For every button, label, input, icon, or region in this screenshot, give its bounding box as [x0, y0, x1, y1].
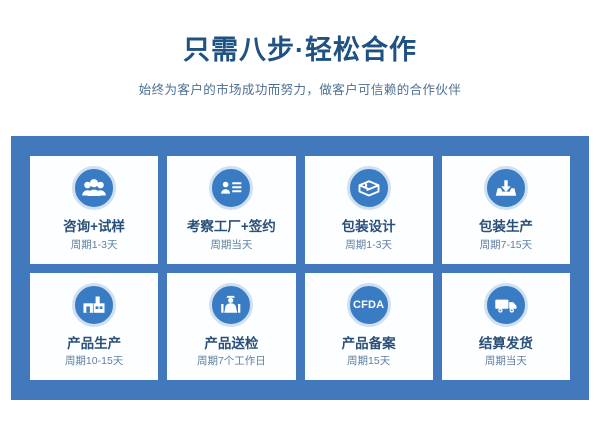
step-duration: 周期15天 — [347, 355, 390, 367]
step-duration: 周期当天 — [210, 239, 252, 251]
step-label: 产品生产 — [67, 336, 121, 352]
step-card-7[interactable]: CFDA 产品备案 周期15天 — [305, 273, 433, 381]
step-label: 考察工厂+签约 — [187, 219, 276, 235]
package-box-icon — [347, 166, 391, 210]
step-card-3[interactable]: 包装设计 周期1-3天 — [305, 156, 433, 264]
step-label: 包装生产 — [479, 219, 533, 235]
people-group-icon — [72, 166, 116, 210]
step-duration: 周期1-3天 — [345, 239, 392, 251]
page-subtitle: 始终为客户的市场成功而努力，做客户可信赖的合作伙伴 — [0, 79, 600, 98]
step-card-2[interactable]: 考察工厂+签约 周期当天 — [167, 156, 295, 264]
promo-infographic: 只需八步·轻松合作 始终为客户的市场成功而努力，做客户可信赖的合作伙伴 咨询+试 — [0, 0, 600, 422]
inbox-download-icon — [484, 166, 528, 210]
step-label: 产品备案 — [342, 336, 396, 352]
step-duration: 周期7个工作日 — [197, 355, 266, 367]
step-card-8[interactable]: 结算发货 周期当天 — [442, 273, 570, 381]
step-card-5[interactable]: 产品生产 周期10-15天 — [30, 273, 158, 381]
step-card-4[interactable]: 包装生产 周期7-15天 — [442, 156, 570, 264]
step-card-1[interactable]: 咨询+试样 周期1-3天 — [30, 156, 158, 264]
inspector-icon — [209, 283, 253, 327]
step-duration: 周期当天 — [485, 355, 527, 367]
id-card-icon — [209, 166, 253, 210]
header: 只需八步·轻松合作 始终为客户的市场成功而努力，做客户可信赖的合作伙伴 — [0, 0, 600, 98]
cfda-label: CFDA — [353, 299, 384, 311]
factory-icon — [72, 283, 116, 327]
page-title: 只需八步·轻松合作 — [0, 36, 600, 66]
delivery-truck-icon — [484, 283, 528, 327]
step-label: 结算发货 — [479, 336, 533, 352]
step-duration: 周期10-15天 — [65, 355, 123, 367]
step-label: 包装设计 — [342, 219, 396, 235]
step-label: 咨询+试样 — [63, 219, 125, 235]
cfda-text-icon: CFDA — [347, 283, 391, 327]
step-label: 产品送检 — [204, 336, 258, 352]
steps-panel: 咨询+试样 周期1-3天 考察工厂+签约 周期当天 — [11, 136, 589, 400]
step-duration: 周期1-3天 — [71, 239, 118, 251]
step-duration: 周期7-15天 — [480, 239, 533, 251]
step-card-6[interactable]: 产品送检 周期7个工作日 — [167, 273, 295, 381]
